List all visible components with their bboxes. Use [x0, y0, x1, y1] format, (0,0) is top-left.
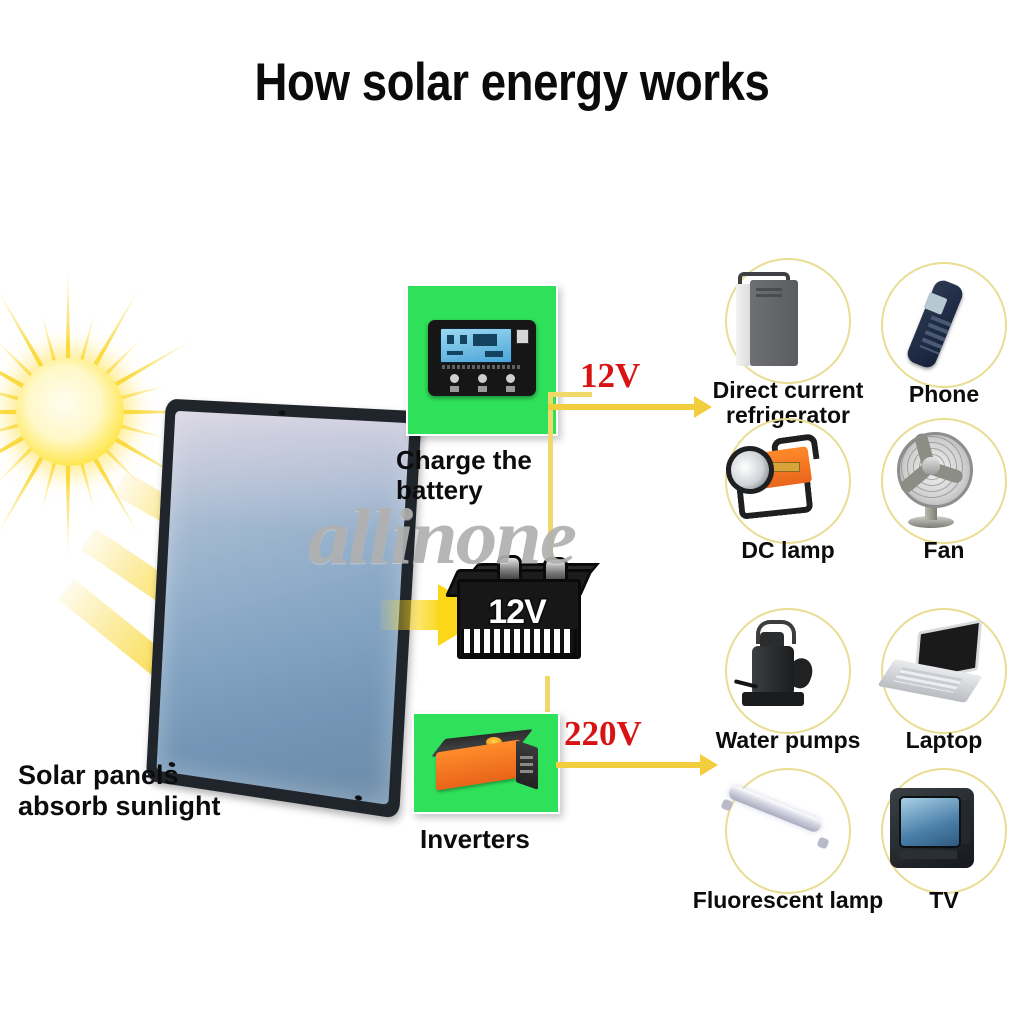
inverter-icon — [436, 732, 540, 792]
fan-icon — [868, 418, 994, 544]
tv-icon — [868, 768, 994, 894]
appliance-label: Fan — [829, 538, 1024, 563]
battery-voltage-label: 12V — [469, 593, 565, 632]
dc-lamp-icon — [712, 418, 838, 544]
solar-panel — [148, 405, 410, 800]
fluorescent-lamp-icon — [712, 768, 838, 894]
appliance-label: TV — [829, 888, 1024, 913]
phone-icon — [868, 262, 994, 388]
infographic-canvas: How solar energy works — [0, 0, 1024, 1024]
laptop-icon — [868, 608, 994, 734]
inverter-card — [412, 712, 560, 814]
voltage-label-12v: 12V — [580, 356, 640, 396]
charge-controller-card — [406, 284, 558, 436]
watermark: allinone — [308, 493, 575, 583]
refrigerator-icon — [712, 258, 838, 384]
page-title: How solar energy works — [72, 52, 953, 113]
water-pump-icon — [712, 608, 838, 734]
appliance-label: Laptop — [829, 728, 1024, 753]
appliance-label: Phone — [829, 382, 1024, 407]
solar-panel-caption: Solar panels absorb sunlight — [18, 760, 221, 823]
voltage-label-220v: 220V — [564, 714, 642, 754]
inverter-caption: Inverters — [420, 824, 530, 854]
charge-controller-icon — [428, 320, 536, 396]
